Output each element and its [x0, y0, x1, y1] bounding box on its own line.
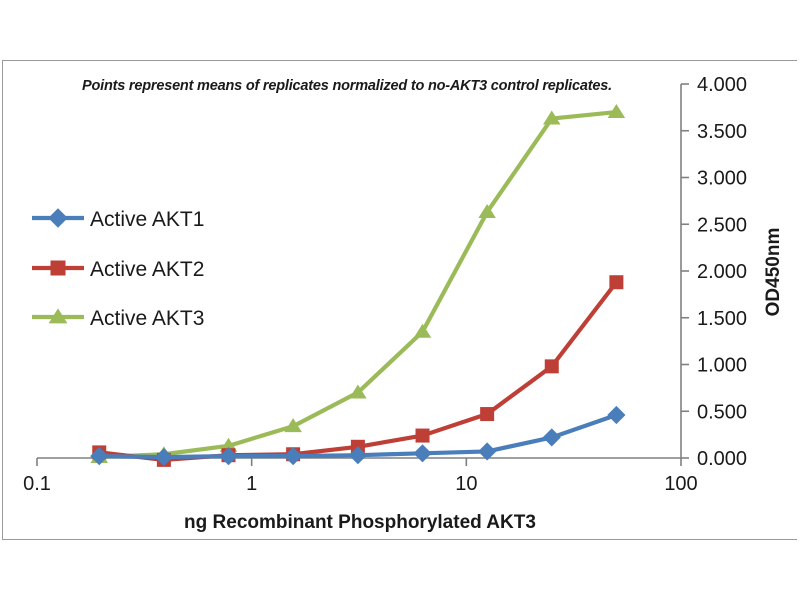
y-tick-label: 3.500	[697, 121, 747, 143]
data-point	[543, 428, 561, 446]
x-tick-label: 10	[455, 473, 477, 495]
legend-marker-diamond-icon	[48, 208, 68, 228]
data-point	[480, 407, 494, 421]
data-point	[545, 359, 559, 373]
legend-item-active-akt2[interactable]: Active AKT2	[32, 258, 204, 281]
series-active-akt3	[91, 104, 626, 463]
chart-canvas: Points represent means of replicates nor…	[0, 0, 800, 600]
y-tick-label: 0.000	[697, 448, 747, 470]
legend-item-active-akt1[interactable]: Active AKT1	[32, 208, 204, 231]
data-point	[416, 429, 430, 443]
y-axis-title: OD450nm	[763, 228, 784, 317]
chart-legend: Active AKT1Active AKT2Active AKT3	[32, 208, 204, 330]
x-axis-title: ng Recombinant Phosphorylated AKT3	[184, 512, 536, 533]
series-active-akt1	[90, 406, 625, 466]
chart-series-group	[90, 104, 625, 467]
series-line	[99, 112, 616, 457]
y-axis-tick-labels: 0.0000.5001.0001.5002.0002.5003.0003.500…	[697, 74, 747, 470]
y-tick-label: 4.000	[697, 74, 747, 96]
x-axis-tick-labels: 0.1110100	[23, 473, 698, 495]
data-point	[414, 324, 432, 338]
x-tick-label: 100	[664, 473, 697, 495]
y-tick-label: 1.500	[697, 308, 747, 330]
x-tick-label: 0.1	[23, 473, 51, 495]
legend-item-active-akt3[interactable]: Active AKT3	[32, 307, 204, 330]
y-tick-label: 1.000	[697, 355, 747, 377]
y-axis-ticks	[681, 84, 689, 458]
chart-figure: Points represent means of replicates nor…	[0, 0, 800, 600]
y-tick-label: 3.000	[697, 168, 747, 190]
legend-label: Active AKT2	[90, 258, 204, 281]
x-tick-label: 1	[246, 473, 257, 495]
legend-marker-square-icon	[51, 261, 66, 276]
data-point	[607, 406, 625, 424]
legend-label: Active AKT1	[90, 208, 204, 231]
y-tick-label: 2.000	[697, 261, 747, 283]
data-point	[413, 444, 431, 462]
y-tick-label: 0.500	[697, 401, 747, 423]
y-tick-label: 2.500	[697, 214, 747, 236]
data-point	[609, 275, 623, 289]
chart-annotation: Points represent means of replicates nor…	[82, 78, 612, 94]
legend-label: Active AKT3	[90, 307, 204, 330]
